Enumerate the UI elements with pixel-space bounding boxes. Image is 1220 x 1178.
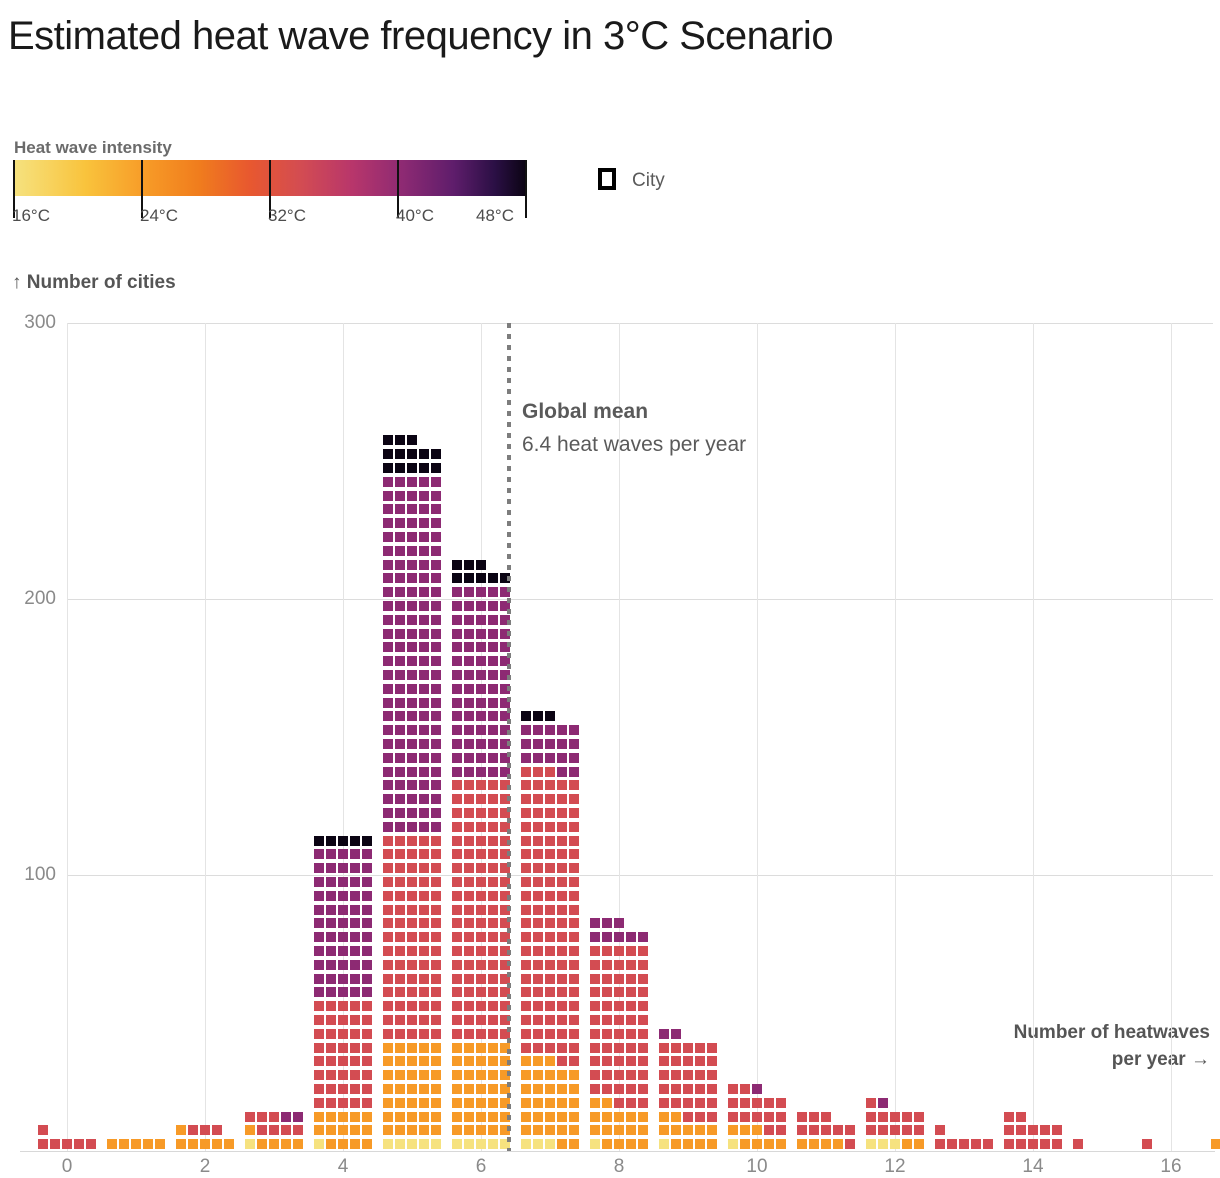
- city-cell: [545, 739, 555, 749]
- city-cell: [545, 725, 555, 735]
- city-cell: [476, 629, 486, 639]
- city-cell: [212, 1139, 222, 1149]
- city-cell: [878, 1112, 888, 1122]
- city-cell: [452, 1125, 462, 1135]
- city-cell: [431, 587, 441, 597]
- city-cell: [362, 946, 372, 956]
- city-cell: [350, 946, 360, 956]
- city-cell: [866, 1098, 876, 1108]
- city-cell: [533, 974, 543, 984]
- city-cell: [395, 780, 405, 790]
- city-cell: [326, 1015, 336, 1025]
- city-cell: [452, 560, 462, 570]
- city-cell: [419, 711, 429, 721]
- city-cell: [695, 1125, 705, 1135]
- city-cell: [464, 932, 474, 942]
- city-cell: [476, 711, 486, 721]
- city-cell: [395, 449, 405, 459]
- city-cell: [395, 532, 405, 542]
- gridline-x-12: [895, 323, 896, 1151]
- city-cell: [707, 1098, 717, 1108]
- city-cell: [407, 974, 417, 984]
- city-cell: [602, 946, 612, 956]
- city-cell: [407, 615, 417, 625]
- city-cell: [281, 1139, 291, 1149]
- city-cell: [257, 1125, 267, 1135]
- city-cell: [419, 629, 429, 639]
- city-cell: [419, 1029, 429, 1039]
- city-cell: [452, 808, 462, 818]
- city-cell: [533, 1098, 543, 1108]
- city-cell: [626, 1070, 636, 1080]
- city-cell: [362, 1070, 372, 1080]
- city-cell: [602, 1043, 612, 1053]
- city-cell: [314, 877, 324, 887]
- city-cell: [464, 794, 474, 804]
- city-cell: [350, 1139, 360, 1149]
- city-cell: [314, 1084, 324, 1094]
- city-cell: [821, 1139, 831, 1149]
- city-cell: [338, 946, 348, 956]
- city-cell: [431, 918, 441, 928]
- city-cell: [419, 463, 429, 473]
- city-cell: [545, 905, 555, 915]
- city-cell: [338, 1043, 348, 1053]
- city-cell: [383, 435, 393, 445]
- city-cell: [935, 1139, 945, 1149]
- city-cell: [602, 1001, 612, 1011]
- city-cell: [740, 1125, 750, 1135]
- city-cell: [383, 849, 393, 859]
- city-cell: [569, 767, 579, 777]
- city-cell: [533, 1015, 543, 1025]
- city-cell: [338, 974, 348, 984]
- city-cell: [452, 932, 462, 942]
- city-cell: [395, 767, 405, 777]
- city-cell: [476, 1084, 486, 1094]
- city-cell: [707, 1043, 717, 1053]
- city-cell: [659, 1043, 669, 1053]
- city-cell: [431, 905, 441, 915]
- city-cell: [728, 1084, 738, 1094]
- city-cell: [326, 987, 336, 997]
- city-cell: [338, 1125, 348, 1135]
- city-cell: [521, 1015, 531, 1025]
- city-cell: [533, 836, 543, 846]
- city-cell: [602, 1015, 612, 1025]
- city-cell: [431, 449, 441, 459]
- city-cell: [557, 1029, 567, 1039]
- city-cell: [614, 1015, 624, 1025]
- city-cell: [419, 932, 429, 942]
- city-cell: [521, 794, 531, 804]
- city-cell: [476, 573, 486, 583]
- city-cell: [533, 905, 543, 915]
- city-cell: [1040, 1139, 1050, 1149]
- city-cell: [407, 560, 417, 570]
- city-cell: [431, 615, 441, 625]
- city-cell: [350, 1056, 360, 1066]
- city-cell: [338, 877, 348, 887]
- city-cell: [533, 822, 543, 832]
- city-cell: [488, 670, 498, 680]
- city-cell: [383, 1139, 393, 1149]
- city-cell: [476, 1001, 486, 1011]
- city-cell: [557, 974, 567, 984]
- city-cell: [914, 1125, 924, 1135]
- city-cell: [419, 863, 429, 873]
- city-cell: [407, 905, 417, 915]
- global-mean-label: Global mean: [522, 396, 746, 429]
- city-cell: [350, 1084, 360, 1094]
- city-cell: [695, 1098, 705, 1108]
- city-cell: [569, 794, 579, 804]
- city-cell: [488, 615, 498, 625]
- city-cell: [350, 932, 360, 942]
- city-cell: [419, 960, 429, 970]
- city-cell: [293, 1125, 303, 1135]
- city-cell: [764, 1139, 774, 1149]
- city-cell: [362, 974, 372, 984]
- city-cell: [602, 974, 612, 984]
- city-cell: [314, 960, 324, 970]
- city-cell: [707, 1056, 717, 1066]
- city-cell: [533, 849, 543, 859]
- city-cell: [407, 987, 417, 997]
- city-cell: [464, 684, 474, 694]
- city-cell: [419, 546, 429, 556]
- city-cell: [407, 670, 417, 680]
- city-cell: [452, 849, 462, 859]
- city-cell: [569, 753, 579, 763]
- city-cell: [314, 905, 324, 915]
- city-cell: [431, 684, 441, 694]
- city-cell: [476, 615, 486, 625]
- city-cell: [707, 1084, 717, 1094]
- city-cell: [212, 1125, 222, 1135]
- city-cell: [488, 587, 498, 597]
- city-cell: [752, 1112, 762, 1122]
- city-cell: [476, 753, 486, 763]
- city-cell: [809, 1125, 819, 1135]
- city-cell: [533, 711, 543, 721]
- city-cell: [752, 1139, 762, 1149]
- city-cell: [350, 1070, 360, 1080]
- city-cell: [419, 753, 429, 763]
- city-cell: [557, 822, 567, 832]
- city-cell: [314, 932, 324, 942]
- city-cell: [326, 974, 336, 984]
- city-cell: [638, 1015, 648, 1025]
- city-cell: [362, 891, 372, 901]
- city-cell: [419, 1139, 429, 1149]
- city-cell: [431, 794, 441, 804]
- city-cell: [188, 1139, 198, 1149]
- city-cell: [638, 1001, 648, 1011]
- city-cell: [545, 808, 555, 818]
- city-cell: [407, 1029, 417, 1039]
- city-cell: [338, 1112, 348, 1122]
- city-cell: [314, 918, 324, 928]
- city-cell: [545, 1070, 555, 1080]
- city-cell: [1016, 1125, 1026, 1135]
- x-axis-baseline: [20, 1151, 1215, 1152]
- city-cell: [959, 1139, 969, 1149]
- city-cell: [533, 1125, 543, 1135]
- city-cell: [314, 1056, 324, 1066]
- city-cell: [350, 863, 360, 873]
- city-cell: [407, 435, 417, 445]
- city-cell: [626, 1029, 636, 1039]
- city-cell: [914, 1112, 924, 1122]
- city-cell: [557, 1043, 567, 1053]
- city-cell: [362, 1001, 372, 1011]
- city-cell: [488, 1070, 498, 1080]
- city-cell: [362, 1029, 372, 1039]
- city-cell: [281, 1125, 291, 1135]
- city-cell: [545, 987, 555, 997]
- city-cell: [590, 1043, 600, 1053]
- city-cell: [1028, 1125, 1038, 1135]
- city-cell: [407, 477, 417, 487]
- city-cell: [314, 1070, 324, 1080]
- city-cell: [638, 1056, 648, 1066]
- city-cell: [671, 1070, 681, 1080]
- city-cell: [395, 670, 405, 680]
- city-cell: [431, 753, 441, 763]
- city-cell: [764, 1125, 774, 1135]
- city-cell: [557, 1015, 567, 1025]
- city-cell: [419, 504, 429, 514]
- city-cell: [383, 863, 393, 873]
- city-cell: [350, 1112, 360, 1122]
- city-cell: [476, 1139, 486, 1149]
- city-cell: [452, 877, 462, 887]
- city-cell: [557, 836, 567, 846]
- city-cell: [533, 1056, 543, 1066]
- city-cell: [797, 1125, 807, 1135]
- city-cell: [431, 1125, 441, 1135]
- city-cell: [431, 974, 441, 984]
- city-cell: [878, 1098, 888, 1108]
- city-cell: [383, 546, 393, 556]
- city-cell: [833, 1125, 843, 1135]
- city-cell: [395, 711, 405, 721]
- city-cell: [809, 1139, 819, 1149]
- city-cell: [557, 877, 567, 887]
- city-cell: [602, 987, 612, 997]
- city-cell: [638, 1125, 648, 1135]
- city-cell: [407, 656, 417, 666]
- city-cell: [569, 849, 579, 859]
- city-cell: [326, 1056, 336, 1066]
- global-mean-value: 6.4 heat waves per year: [522, 433, 746, 456]
- x-tick-label-4: 4: [338, 1156, 349, 1178]
- city-cell: [395, 1070, 405, 1080]
- city-cell: [533, 1029, 543, 1039]
- city-cell: [464, 739, 474, 749]
- gridline-y-200: [68, 599, 1213, 600]
- city-cell: [464, 822, 474, 832]
- city-cell: [602, 918, 612, 928]
- city-cell: [176, 1139, 186, 1149]
- city-cell: [383, 449, 393, 459]
- city-cell: [488, 1015, 498, 1025]
- city-cell: [395, 1139, 405, 1149]
- city-cell: [521, 822, 531, 832]
- city-cell: [569, 1112, 579, 1122]
- city-cell: [602, 1029, 612, 1039]
- city-cell: [350, 987, 360, 997]
- city-cell: [488, 656, 498, 666]
- city-cell: [488, 1043, 498, 1053]
- city-cell: [431, 1015, 441, 1025]
- city-cell: [557, 1112, 567, 1122]
- city-cell: [419, 698, 429, 708]
- city-cell: [476, 587, 486, 597]
- city-cell: [383, 642, 393, 652]
- city-cell: [707, 1070, 717, 1080]
- city-cell: [545, 1001, 555, 1011]
- city-cell: [383, 877, 393, 887]
- city-cell: [326, 1125, 336, 1135]
- city-cell: [314, 891, 324, 901]
- city-cell: [476, 836, 486, 846]
- city-cell: [314, 863, 324, 873]
- city-cell: [776, 1112, 786, 1122]
- city-cell: [383, 918, 393, 928]
- city-cell: [845, 1125, 855, 1135]
- city-cell: [569, 739, 579, 749]
- city-cell: [362, 863, 372, 873]
- city-cell: [476, 780, 486, 790]
- city-cell: [557, 1070, 567, 1080]
- city-cell: [638, 987, 648, 997]
- city-cell: [338, 836, 348, 846]
- city-cell: [383, 491, 393, 501]
- city-cell: [476, 1029, 486, 1039]
- city-cell: [383, 1125, 393, 1135]
- city-cell: [464, 1098, 474, 1108]
- city-cell: [1004, 1112, 1014, 1122]
- city-cell: [476, 684, 486, 694]
- city-cell: [362, 849, 372, 859]
- city-cell: [431, 808, 441, 818]
- city-cell: [419, 1125, 429, 1135]
- city-cell: [557, 987, 567, 997]
- city-cell: [521, 877, 531, 887]
- city-cell: [1211, 1139, 1220, 1149]
- city-cell: [728, 1125, 738, 1135]
- city-cell: [521, 753, 531, 763]
- city-cell: [659, 1112, 669, 1122]
- city-cell: [326, 946, 336, 956]
- city-cell: [383, 560, 393, 570]
- city-cell: [683, 1070, 693, 1080]
- city-cell: [395, 725, 405, 735]
- city-cell: [419, 849, 429, 859]
- city-cell: [407, 946, 417, 956]
- city-cell: [362, 877, 372, 887]
- city-cell: [557, 960, 567, 970]
- city-cell: [362, 932, 372, 942]
- city-cell: [326, 1139, 336, 1149]
- city-cell: [314, 1001, 324, 1011]
- city-cell: [314, 1029, 324, 1039]
- city-cell: [362, 1125, 372, 1135]
- city-cell: [338, 1098, 348, 1108]
- city-cell: [476, 601, 486, 611]
- city-cell: [419, 670, 429, 680]
- city-cell: [488, 698, 498, 708]
- city-cell: [728, 1098, 738, 1108]
- city-cell: [614, 974, 624, 984]
- city-cell: [476, 767, 486, 777]
- city-cell: [395, 615, 405, 625]
- city-cell: [602, 1112, 612, 1122]
- city-cell: [626, 1139, 636, 1149]
- city-cell: [452, 629, 462, 639]
- city-cell: [383, 739, 393, 749]
- city-cell: [464, 891, 474, 901]
- city-cell: [395, 477, 405, 487]
- city-cell: [464, 1029, 474, 1039]
- city-cell: [545, 849, 555, 859]
- city-cell: [521, 932, 531, 942]
- city-cell: [464, 1125, 474, 1135]
- gridline-x-14: [1033, 323, 1034, 1151]
- city-cell: [464, 946, 474, 956]
- city-cell: [569, 725, 579, 735]
- city-cell: [362, 918, 372, 928]
- city-cell: [659, 1125, 669, 1135]
- city-cell: [407, 767, 417, 777]
- city-cell: [533, 863, 543, 873]
- city-cell: [464, 629, 474, 639]
- city-cell: [314, 946, 324, 956]
- city-cell: [407, 863, 417, 873]
- city-cell: [638, 960, 648, 970]
- city-cell: [350, 905, 360, 915]
- city-cell: [671, 1125, 681, 1135]
- city-cell: [407, 463, 417, 473]
- city-cell: [464, 573, 474, 583]
- city-cell: [395, 753, 405, 763]
- city-cell: [452, 780, 462, 790]
- city-cell: [119, 1139, 129, 1149]
- city-cell: [452, 987, 462, 997]
- city-cell: [464, 1015, 474, 1025]
- city-cell: [362, 1112, 372, 1122]
- city-cell: [557, 739, 567, 749]
- city-cell: [476, 656, 486, 666]
- city-cell: [407, 1015, 417, 1025]
- city-cell: [314, 974, 324, 984]
- city-cell: [476, 794, 486, 804]
- city-cell: [521, 1029, 531, 1039]
- city-cell: [452, 656, 462, 666]
- city-cell: [383, 698, 393, 708]
- city-cell: [707, 1139, 717, 1149]
- city-cell: [521, 725, 531, 735]
- city-cell: [407, 1043, 417, 1053]
- city-cell: [545, 822, 555, 832]
- city-cell: [464, 863, 474, 873]
- city-cell: [488, 905, 498, 915]
- city-cell: [533, 1001, 543, 1011]
- city-cell: [1073, 1139, 1083, 1149]
- city-cell: [590, 932, 600, 942]
